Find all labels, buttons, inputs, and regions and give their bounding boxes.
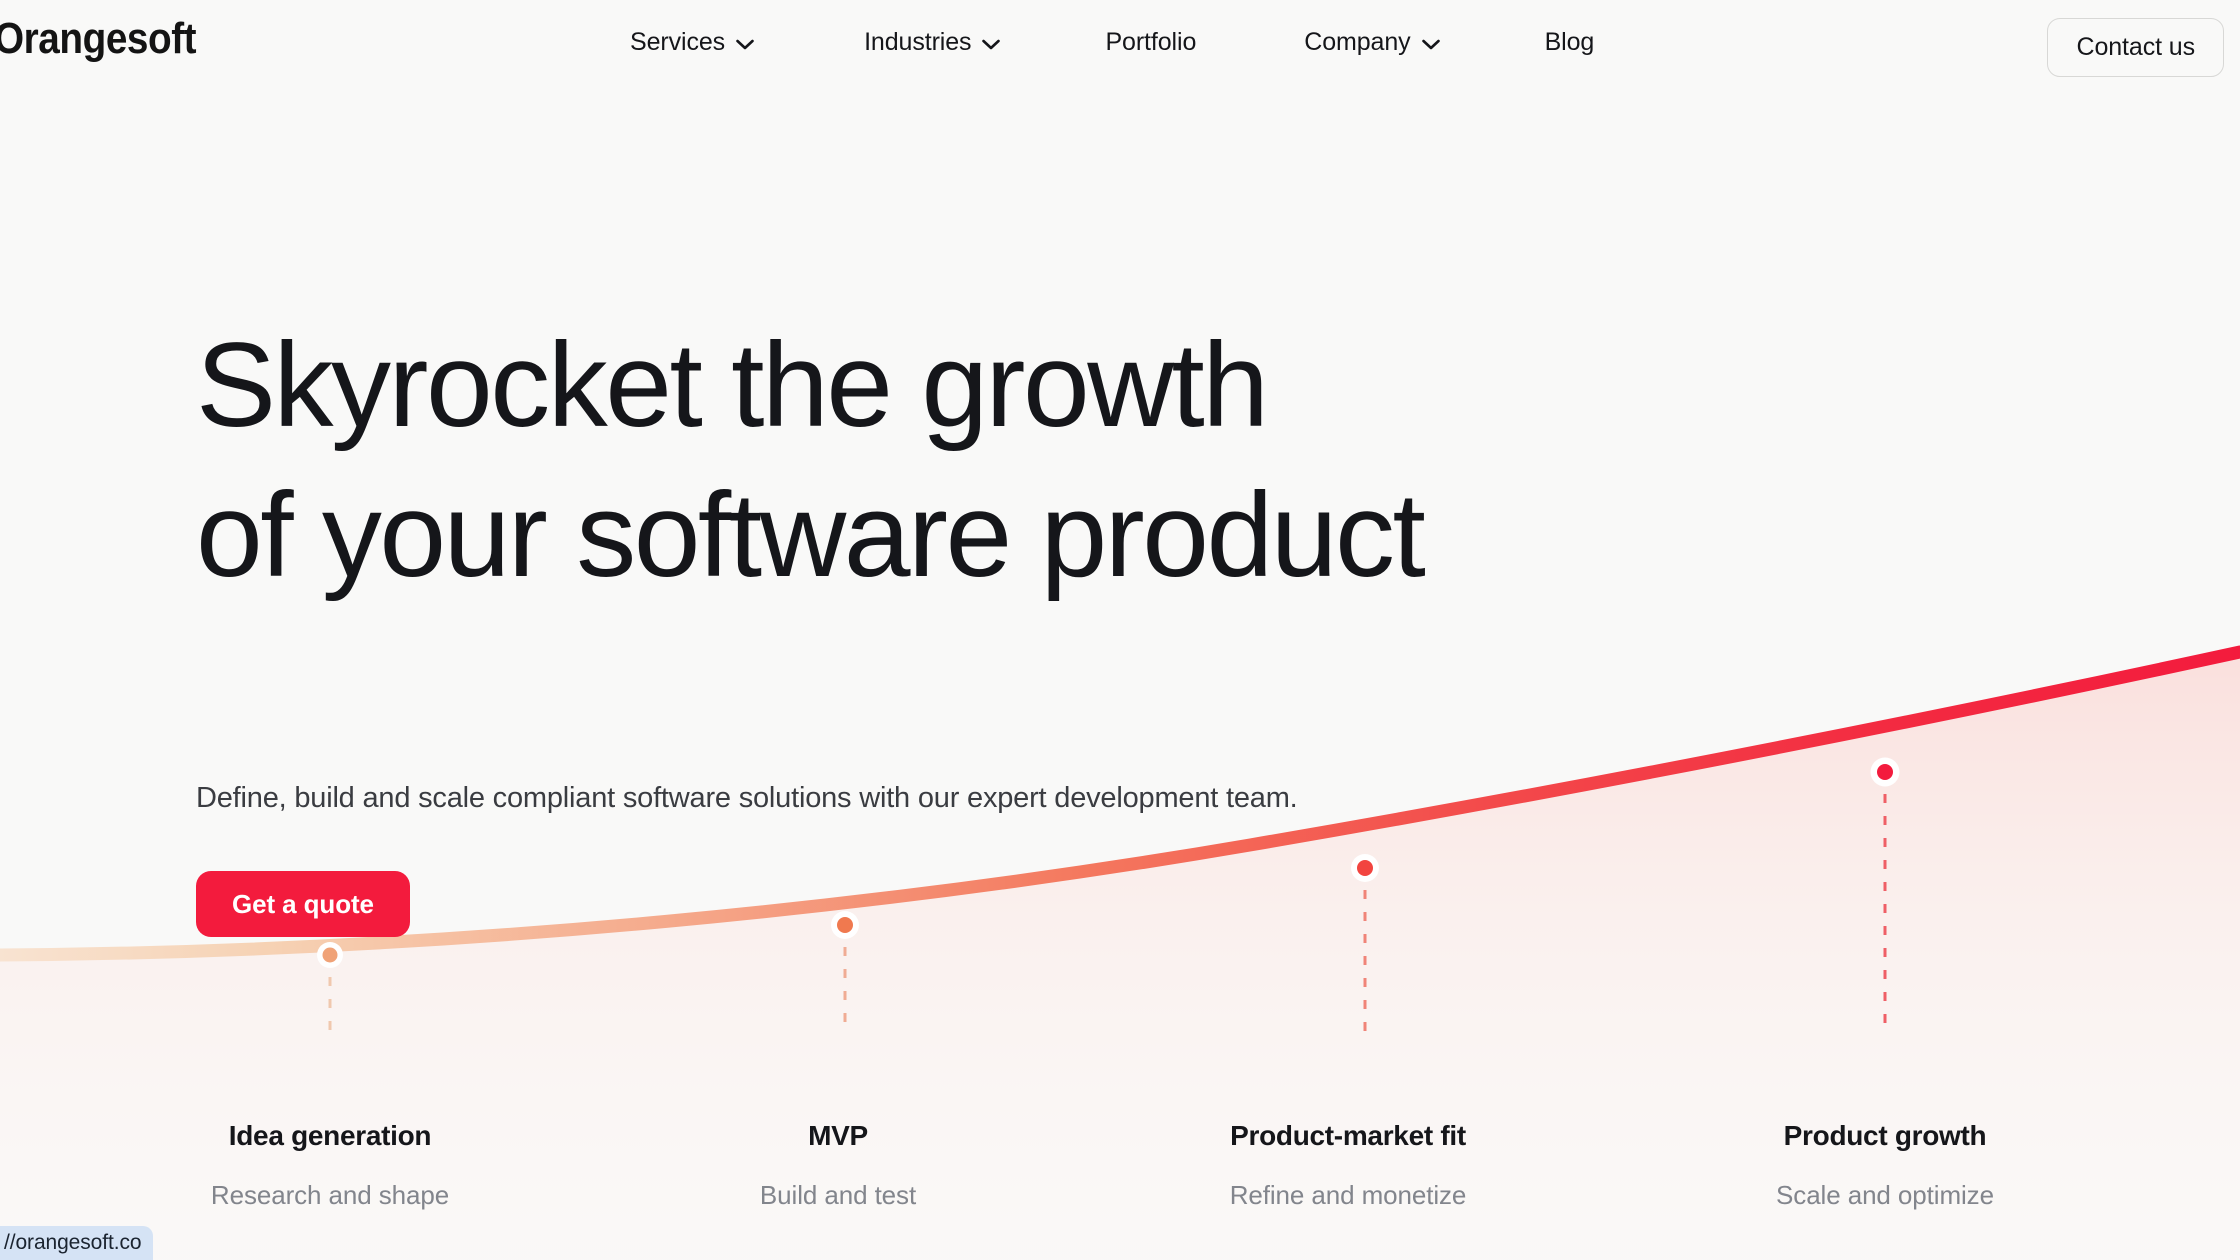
nav-item-company[interactable]: Company: [1304, 28, 1439, 57]
nav-item-industries[interactable]: Industries: [864, 28, 1000, 57]
status-bar-url: //orangesoft.co: [4, 1231, 141, 1255]
stage-product-market-fit: Product-market fit Refine and monetize: [1230, 1120, 1467, 1211]
brand-logo[interactable]: Orangesoft: [0, 14, 196, 64]
nav-item-label: Company: [1304, 28, 1410, 57]
stage-mvp: MVP Build and test: [760, 1120, 916, 1211]
stage-subtitle: Build and test: [760, 1180, 916, 1211]
stage-subtitle: Refine and monetize: [1230, 1180, 1467, 1211]
stage-title: Product-market fit: [1230, 1120, 1467, 1152]
headline-line-1: Skyrocket the growth: [196, 318, 1267, 452]
page-title: Skyrocket the growth of your software pr…: [196, 205, 1423, 715]
stage-subtitle: Research and shape: [211, 1180, 449, 1211]
nav-item-blog[interactable]: Blog: [1545, 28, 1595, 57]
headline-line-2: of your software product: [196, 475, 1423, 595]
stage-idea-generation: Idea generation Research and shape: [211, 1120, 449, 1211]
stage-title: Product growth: [1776, 1120, 1994, 1152]
chevron-down-icon: [1422, 39, 1440, 50]
site-header: Orangesoft Services Industries Portfolio…: [0, 0, 2240, 96]
hero-subheading: Define, build and scale compliant softwa…: [196, 779, 1423, 818]
browser-status-bar: //orangesoft.co: [0, 1226, 153, 1260]
stage-title: Idea generation: [211, 1120, 449, 1152]
nav-item-label: Portfolio: [1105, 28, 1196, 57]
nav-item-label: Industries: [864, 28, 971, 57]
stage-product-growth: Product growth Scale and optimize: [1776, 1120, 1994, 1211]
hero-section: Skyrocket the growth of your software pr…: [196, 205, 1423, 937]
chevron-down-icon: [736, 39, 754, 50]
nav-item-label: Services: [630, 28, 725, 57]
page-root: Orangesoft Services Industries Portfolio…: [0, 0, 2240, 1260]
get-a-quote-button[interactable]: Get a quote: [196, 871, 410, 937]
chevron-down-icon: [982, 39, 1000, 50]
nav-item-portfolio[interactable]: Portfolio: [1105, 28, 1196, 57]
nav-item-services[interactable]: Services: [630, 28, 754, 57]
primary-nav: Services Industries Portfolio Company: [630, 28, 1594, 57]
contact-us-button[interactable]: Contact us: [2047, 18, 2224, 77]
nav-item-label: Blog: [1545, 28, 1595, 57]
stage-subtitle: Scale and optimize: [1776, 1180, 1994, 1211]
stage-title: MVP: [760, 1120, 916, 1152]
